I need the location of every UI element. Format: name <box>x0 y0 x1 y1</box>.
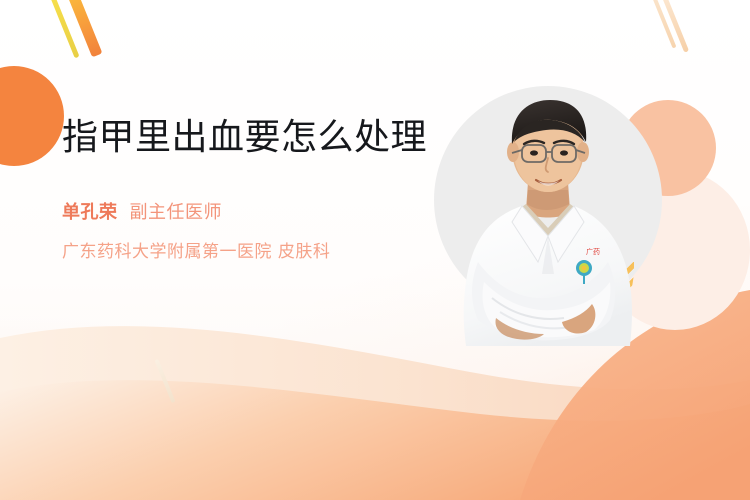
doctor-affiliation: 广东药科大学附属第一医院 皮肤科 <box>62 238 432 266</box>
doctor-name: 单孔荣 <box>62 202 118 223</box>
doctor-portrait-illustration: 广药 <box>434 86 662 346</box>
page-title: 指甲里出血要怎么处理 <box>62 116 432 160</box>
doctor-photo: 广药 <box>434 86 662 346</box>
svg-text:广药: 广药 <box>586 247 600 256</box>
doctor-byline: 单孔荣副主任医师 <box>62 198 432 228</box>
doctor-rank: 副主任医师 <box>130 202 223 223</box>
text-block: 指甲里出血要怎么处理 单孔荣副主任医师 广东药科大学附属第一医院 皮肤科 <box>62 116 432 266</box>
doctor-info-card: 广药 <box>0 0 750 500</box>
